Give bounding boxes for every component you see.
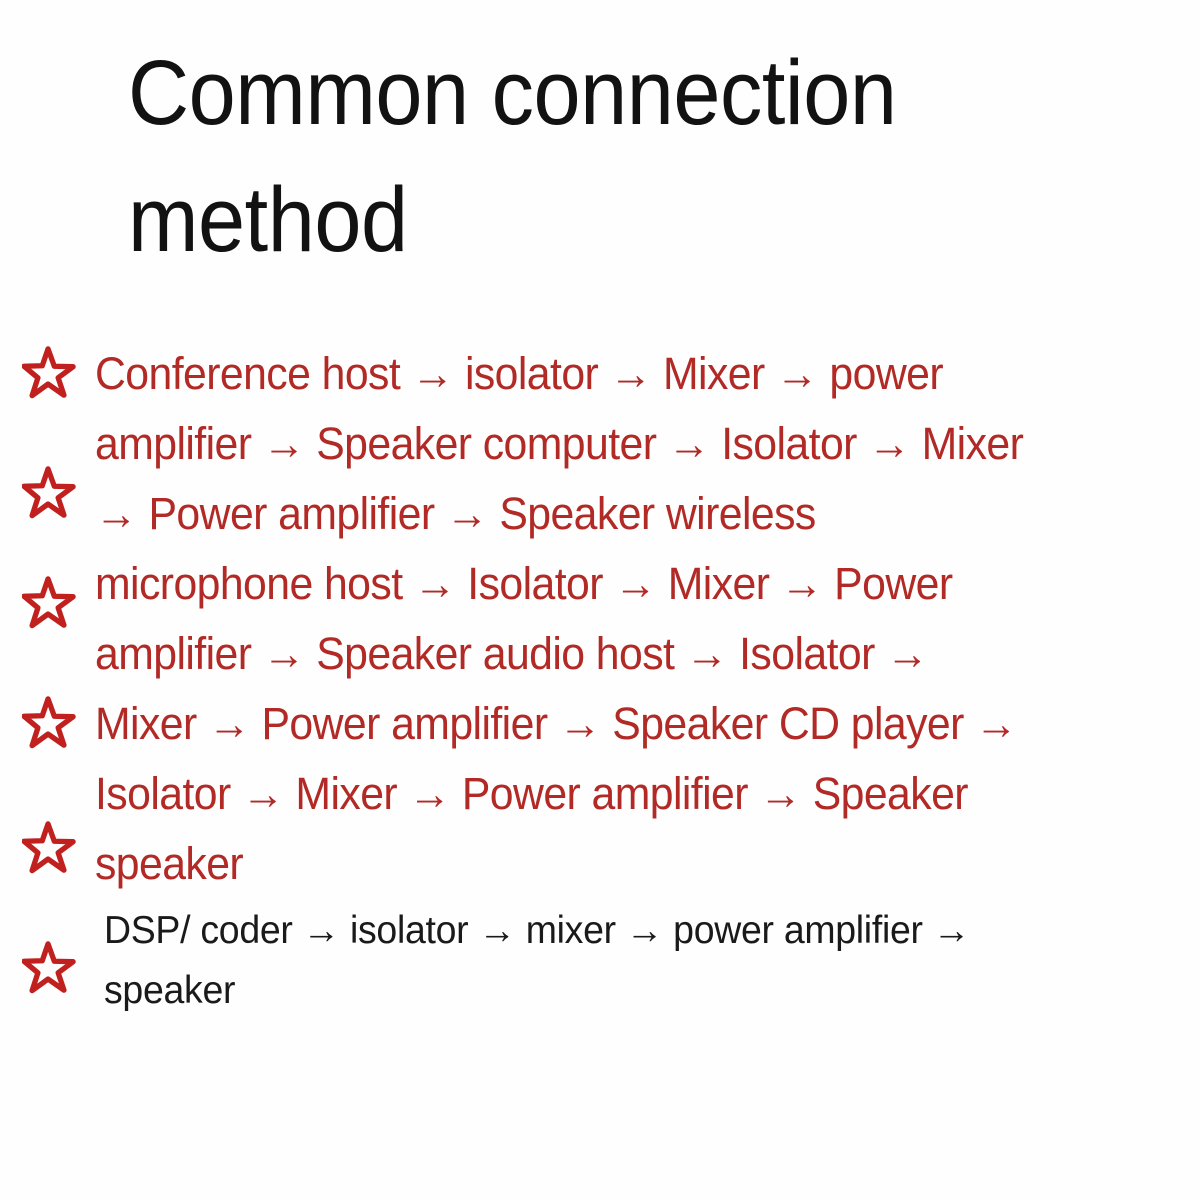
page-title-line-2: method (128, 157, 1002, 284)
connection-line-9: DSP/ coder → isolator → mixer → power am… (104, 911, 970, 950)
connection-line-7: Isolator → Mixer → Power amplifier → Spe… (95, 771, 968, 816)
connection-line-3: → Power amplifier → Speaker wireless (95, 491, 816, 536)
page-title: Common connection method (128, 30, 1078, 284)
connection-line-4: microphone host → Isolator → Mixer → Pow… (95, 561, 952, 606)
star-outline-icon (22, 465, 76, 519)
star-outline-icon (22, 940, 76, 994)
star-outline-icon (22, 695, 76, 749)
connection-line-2: amplifier → Speaker computer → Isolator … (95, 421, 1023, 466)
connection-line-6: Mixer → Power amplifier → Speaker CD pla… (95, 701, 1017, 746)
connection-line-5: amplifier → Speaker audio host → Isolato… (95, 631, 928, 676)
page-title-line-1: Common connection (128, 30, 1002, 157)
connection-line-10: speaker (104, 971, 235, 1010)
star-outline-icon (22, 575, 76, 629)
slide-canvas: Common connection method Conference host… (0, 0, 1200, 1200)
connection-line-1: Conference host → isolator → Mixer → pow… (95, 351, 943, 396)
star-outline-icon (22, 345, 76, 399)
star-outline-icon (22, 820, 76, 874)
connection-line-8: speaker (95, 841, 243, 886)
